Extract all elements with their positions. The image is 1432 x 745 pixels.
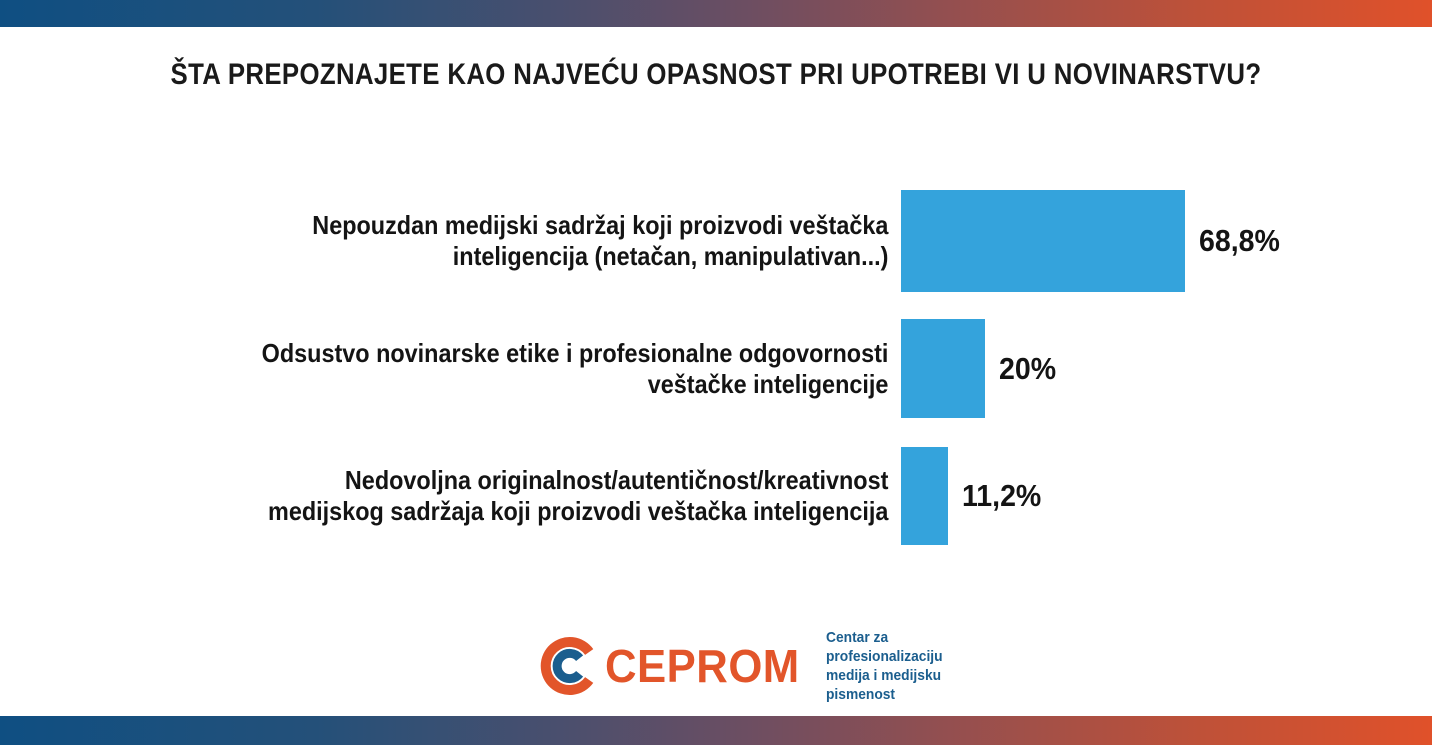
bar-segment xyxy=(901,319,985,418)
bar-segment xyxy=(901,447,948,545)
ceprom-logo-mark-icon xyxy=(537,635,599,697)
bar-chart: Nepouzdan medijski sadržaj koji proizvod… xyxy=(0,180,1432,560)
bar-value-label: 68,8% xyxy=(1199,223,1280,259)
chart-row: Nepouzdan medijski sadržaj koji proizvod… xyxy=(0,190,1432,292)
bar-segment xyxy=(901,190,1185,292)
chart-row: Nedovoljna originalnost/autentičnost/kre… xyxy=(0,447,1432,545)
top-accent-bar xyxy=(0,0,1432,27)
category-label: Nepouzdan medijski sadržaj koji proizvod… xyxy=(90,210,901,271)
ceprom-wordmark: CEPROM xyxy=(605,643,800,689)
chart-row: Odsustvo novinarske etike i profesionaln… xyxy=(0,319,1432,418)
page-title: ŠTA PREPOZNAJETE KAO NAJVEĆU OPASNOST PR… xyxy=(100,58,1332,92)
ceprom-logo: CEPROM Centar za profesionalizaciju medi… xyxy=(537,634,897,698)
category-label: Nedovoljna originalnost/autentičnost/kre… xyxy=(90,465,901,526)
bar-track: 11,2% xyxy=(901,447,1432,545)
bar-value-label: 20% xyxy=(999,351,1056,387)
bottom-accent-bar xyxy=(0,716,1432,745)
category-label: Odsustvo novinarske etike i profesionaln… xyxy=(90,338,901,399)
ceprom-tagline: Centar za profesionalizaciju medija i me… xyxy=(826,628,943,705)
bar-track: 20% xyxy=(901,319,1432,418)
bar-value-label: 11,2% xyxy=(962,478,1041,514)
slide-canvas: ŠTA PREPOZNAJETE KAO NAJVEĆU OPASNOST PR… xyxy=(0,0,1432,745)
bar-track: 68,8% xyxy=(901,190,1432,292)
